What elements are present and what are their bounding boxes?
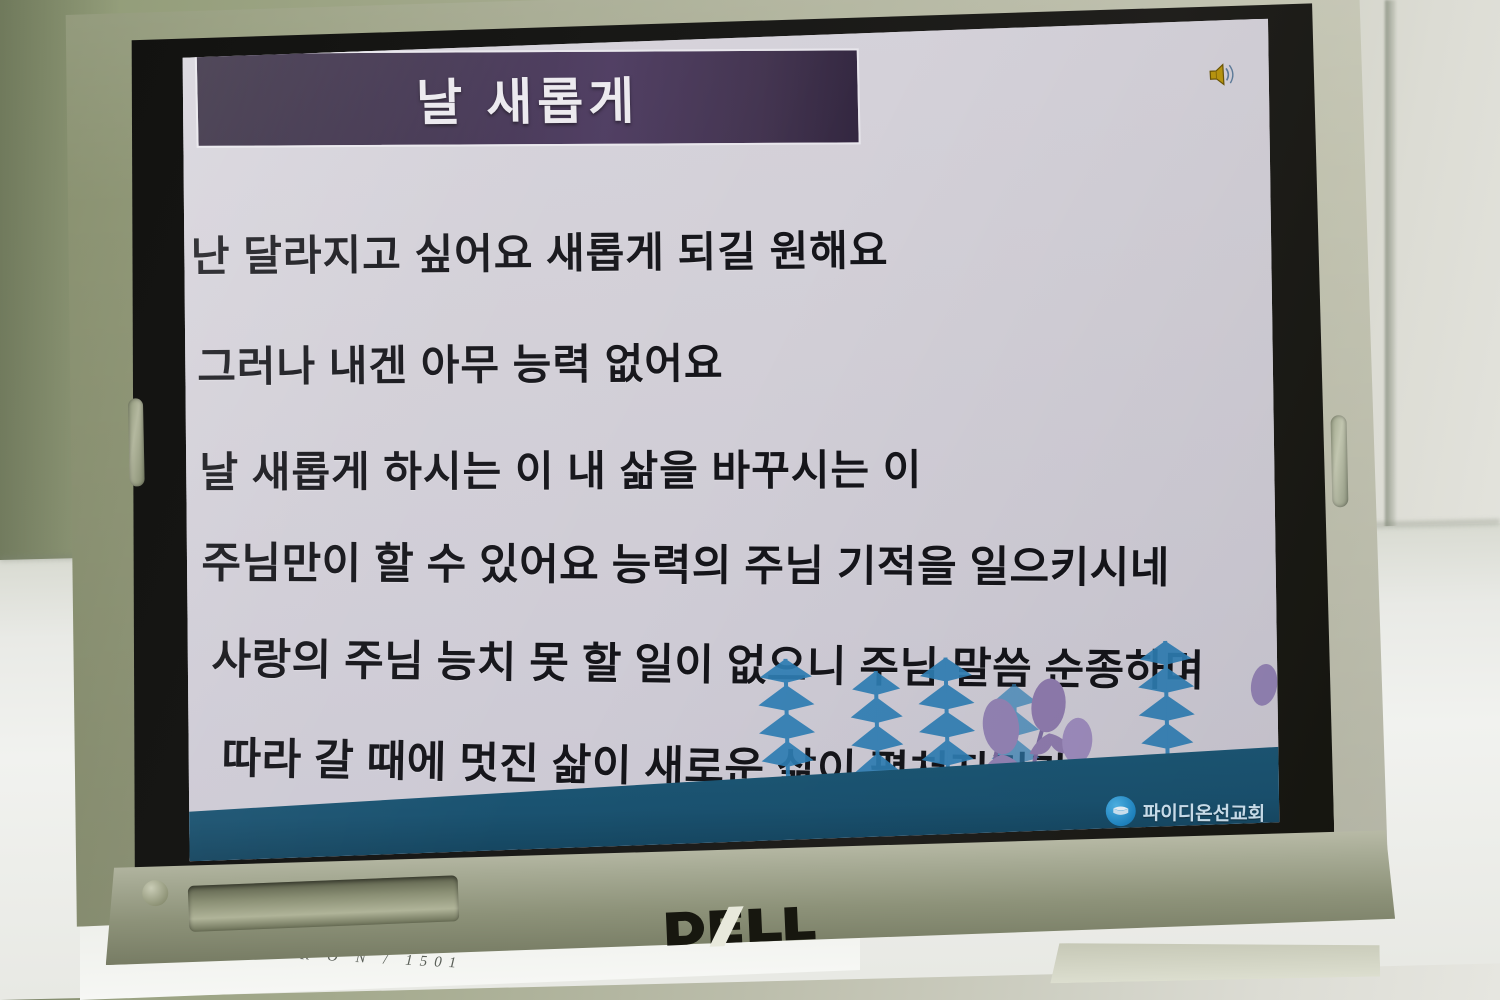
presentation-slide[interactable]: 날 새롭게 난 달라지고 싶어요 새롭게 되길 원해요 그러나 내겐 아무 능력… [172, 19, 1287, 862]
lyric-line-2: 그러나 내겐 아무 능력 없어요 [197, 330, 724, 395]
lyric-line-4: 주님만이 할 수 있어요 능력의 주님 기적을 일으키시네 [201, 528, 1170, 595]
lyric-line-3: 날 새롭게 하시는 이 내 삶을 바꾸시는 이 [199, 436, 922, 500]
dell-logo [664, 903, 816, 955]
laptop-screen[interactable]: 날 새롭게 난 달라지고 싶어요 새롭게 되길 원해요 그러나 내겐 아무 능력… [172, 19, 1287, 862]
lyric-line-1: 난 달라지고 싶어요 새롭게 되길 원해요 [191, 217, 889, 284]
lid-bumper-right [1331, 415, 1349, 507]
laptop-palmrest [1050, 936, 1381, 983]
church-logo: 파이디온선교회 [1105, 796, 1265, 827]
laptop-device: 날 새롭게 난 달라지고 싶어요 새롭게 되길 원해요 그러나 내겐 아무 능력… [50, 0, 1411, 1000]
church-logo-mark [1105, 796, 1135, 826]
photo-scene: I N S P I R O N / 1501 날 새롭게 [0, 0, 1500, 1000]
dell-wordmark-icon [664, 903, 816, 950]
lid-bumper-left [128, 398, 145, 486]
church-logo-text: 파이디온선교회 [1142, 798, 1265, 826]
